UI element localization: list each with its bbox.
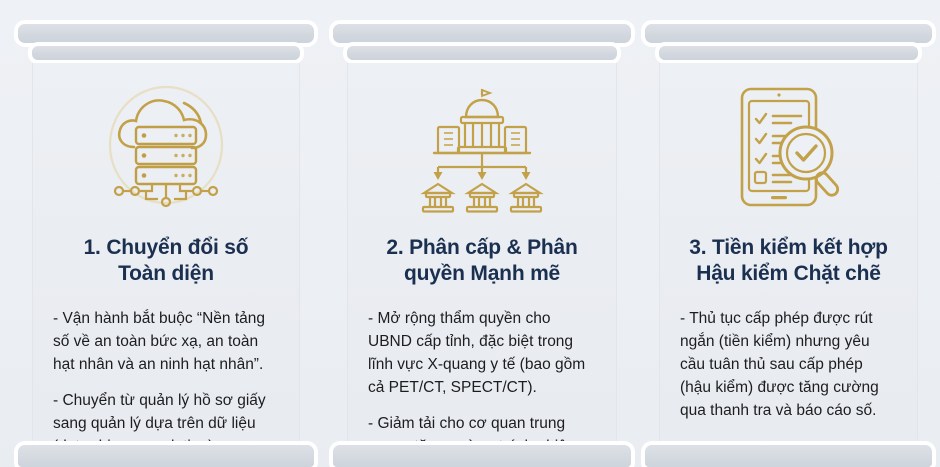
government-hierarchy-icon: [407, 77, 557, 217]
pillar-shaft-3: 3. Tiền kiểm kết hợp Hậu kiểm Chặt chẽ -…: [659, 63, 918, 443]
cloud-server-digital-icon: [91, 77, 241, 217]
pillar-shaft-1: 1. Chuyển đổi số Toàn diện - Vận hành bắ…: [32, 63, 300, 443]
tablet-checklist-magnifier-icon: [714, 77, 864, 217]
card-paragraph: - Thủ tục cấp phép được rút ngắn (tiền k…: [680, 308, 897, 423]
capital-bar-bottom: [32, 46, 300, 60]
capital-bar-top: [333, 24, 631, 43]
card-title-line2: quyền Mạnh mẽ: [404, 262, 560, 285]
pillar-shaft-2: 2. Phân cấp & Phân quyền Mạnh mẽ - Mở rộ…: [347, 63, 617, 443]
capital-bar-bottom: [347, 46, 617, 60]
pillar-base-3: [645, 445, 932, 467]
pillar-capital-1: [18, 24, 314, 60]
infographic-root: 1. Chuyển đổi số Toàn diện - Vận hành bắ…: [0, 0, 940, 467]
pillar-card-3: 3. Tiền kiểm kết hợp Hậu kiểm Chặt chẽ -…: [645, 0, 932, 467]
card-body-3: - Thủ tục cấp phép được rút ngắn (tiền k…: [680, 308, 897, 423]
pillar-base-2: [333, 445, 631, 467]
capital-bar-top: [18, 24, 314, 43]
card-title-3: 3. Tiền kiểm kết hợp Hậu kiểm Chặt chẽ: [689, 235, 887, 286]
pillar-capital-3: [645, 24, 932, 60]
card-title-1: 1. Chuyển đổi số Toàn diện: [84, 235, 249, 286]
card-title-line1: 2. Phân cấp & Phân: [386, 236, 577, 259]
capital-bar-top: [645, 24, 932, 43]
card-body-1: - Vận hành bắt buộc “Nền tảng số về an t…: [53, 308, 279, 459]
pillar-card-2: 2. Phân cấp & Phân quyền Mạnh mẽ - Mở rộ…: [333, 0, 631, 467]
pillar-card-1: 1. Chuyển đổi số Toàn diện - Vận hành bắ…: [18, 0, 314, 467]
card-title-line2: Hậu kiểm Chặt chẽ: [696, 262, 881, 285]
card-title-line1: 3. Tiền kiểm kết hợp: [689, 236, 887, 259]
capital-bar-bottom: [659, 46, 918, 60]
card-title-2: 2. Phân cấp & Phân quyền Mạnh mẽ: [386, 235, 577, 286]
card-title-line1: 1. Chuyển đổi số: [84, 236, 249, 259]
pillar-capital-2: [333, 24, 631, 60]
card-paragraph: - Vận hành bắt buộc “Nền tảng số về an t…: [53, 308, 279, 377]
pillar-base-1: [18, 445, 314, 467]
card-title-line2: Toàn diện: [118, 262, 214, 285]
card-body-2: - Mở rộng thẩm quyền cho UBND cấp tỉnh, …: [368, 308, 596, 467]
card-paragraph: - Mở rộng thẩm quyền cho UBND cấp tỉnh, …: [368, 308, 596, 400]
